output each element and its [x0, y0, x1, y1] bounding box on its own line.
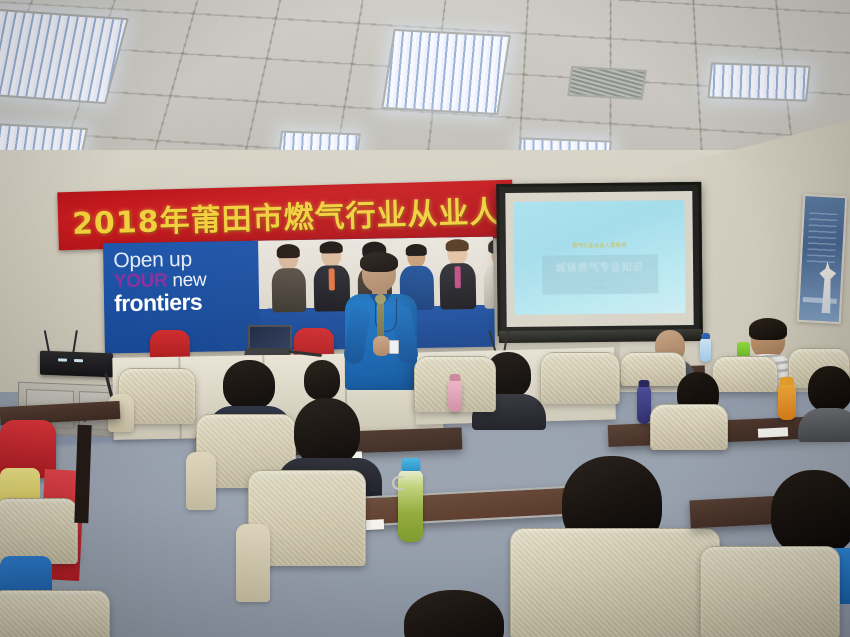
wall-poster: [797, 194, 848, 324]
bottle-orange-tea[interactable]: [778, 384, 796, 420]
laptop-screen[interactable]: [248, 325, 292, 350]
presenter: [345, 254, 417, 390]
ceiling-light-panel-icon: [707, 62, 810, 101]
dancer-figure-icon: [816, 261, 837, 314]
chair-armrest[interactable]: [186, 452, 216, 510]
crew-figure: [483, 242, 495, 309]
attendee-shoulders: [798, 408, 850, 442]
wireless-router: [40, 351, 113, 378]
paper-sheet: [758, 427, 788, 438]
bottle-pink[interactable]: [448, 380, 462, 412]
presenter-hand: [373, 336, 390, 356]
attendee-head: [771, 470, 850, 556]
crew-figure: [271, 246, 306, 313]
attendee-head: [404, 590, 504, 637]
chair[interactable]: [700, 546, 840, 637]
slide-title: 城镇燃气专业知识: [556, 259, 644, 275]
presenter-hair: [360, 252, 398, 272]
slide-title-box: 城镇燃气专业知识 主讲人 2018.07: [541, 255, 657, 295]
projector-screen-surface: 燃气行业从业人员培训 城镇燃气专业知识 主讲人 2018.07: [505, 191, 693, 327]
banner-title: 2018年莆田市燃气行业从业人员培训班: [71, 184, 513, 243]
bottle-blue-water[interactable]: [700, 338, 711, 362]
slide-presenter: 主讲人: [594, 278, 606, 284]
microphone-head-icon: [375, 294, 386, 304]
attendee-far-right: [806, 366, 850, 436]
laptop-keyboard[interactable]: [244, 348, 292, 355]
attendee-head: [808, 366, 850, 412]
ceiling-light-panel-icon: [381, 29, 511, 115]
bottle-purple[interactable]: [637, 386, 651, 424]
chair[interactable]: [0, 498, 78, 564]
air-vent-icon: [567, 66, 647, 100]
poster-line-3: frontiers: [114, 289, 253, 314]
poster-line-2-rest: new: [172, 269, 206, 291]
ceiling-light-panel-icon: [0, 6, 129, 104]
attendee-head: [304, 360, 340, 400]
chair[interactable]: [540, 352, 620, 404]
chair-armrest[interactable]: [236, 524, 270, 602]
chair[interactable]: [0, 590, 110, 637]
chair[interactable]: [650, 404, 728, 450]
crew-figure: [439, 241, 476, 310]
slide-date: 2018.07: [593, 286, 608, 290]
id-badge: [389, 340, 399, 354]
presentation-slide: 燃气行业从业人员培训 城镇燃气专业知识 主讲人 2018.07: [513, 200, 685, 315]
attendee-head: [294, 398, 360, 466]
attendee-head: [223, 360, 275, 410]
slide-supertitle: 燃气行业从业人员培训: [572, 242, 626, 250]
wall-poster-caption: [803, 297, 837, 304]
projector-screen: 燃气行业从业人员培训 城镇燃气专业知识 主讲人 2018.07: [496, 182, 703, 336]
chair[interactable]: [510, 528, 720, 637]
attendee-hair: [749, 318, 787, 340]
training-room-photo: 2018年莆田市燃气行业从业人员培训班: [0, 0, 850, 637]
poster-line-1: Open up: [113, 249, 252, 272]
bottle-green-tea[interactable]: [398, 470, 423, 542]
attendee-bottom-edge: [400, 590, 510, 637]
wall-poster-text-block: [807, 212, 838, 263]
